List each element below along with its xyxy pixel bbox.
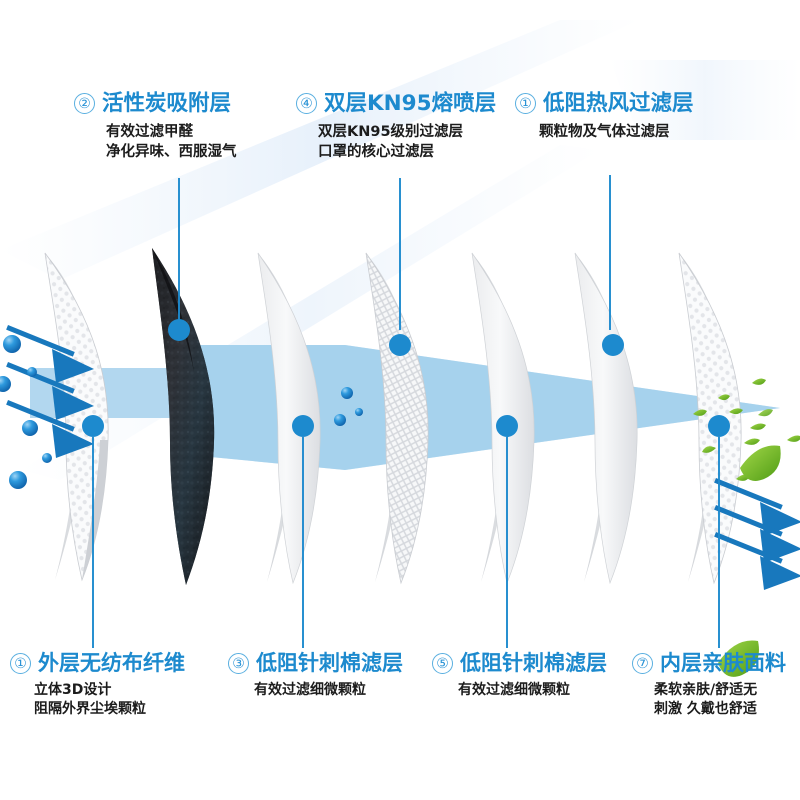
callout-headline: ⑤ 低阻针刺棉滤层 [432,652,607,675]
callout-description: 颗粒物及气体过滤层 [515,122,694,142]
callout-number: ① [515,93,536,114]
callout-inner-skin-fabric: ⑦ 内层亲肤面料 柔软亲肤/舒适无 刺激 久戴也舒适 [632,652,786,720]
callout-dot-meltblown [389,334,411,356]
callout-number: ③ [228,653,249,674]
callout-dot-inner [708,415,730,437]
callout-activated-carbon: ② 活性炭吸附层 有效过滤甲醛 净化异味、西服湿气 [74,92,237,162]
callout-headline: ① 外层无纺布纤维 [10,652,185,675]
callout-dot-outer [82,415,104,437]
callout-description: 立体3D设计 阻隔外界尘埃颗粒 [10,681,185,720]
callout-title: 活性炭吸附层 [102,92,231,116]
callout-title: 低阻针刺棉滤层 [256,652,403,675]
callout-headline: ③ 低阻针刺棉滤层 [228,652,403,675]
fresh-air-leaf-accent [740,445,781,480]
outbound-arrow-3 [714,532,800,590]
mask-layer-diagram: ② 活性炭吸附层 有效过滤甲醛 净化异味、西服湿气 ④ 双层KN95熔喷层 双层… [0,0,800,800]
callout-title: 低阻热风过滤层 [543,92,694,116]
callout-headline: ⑦ 内层亲肤面料 [632,652,786,675]
callout-number: ④ [296,93,317,114]
callout-title: 内层亲肤面料 [660,652,786,675]
callout-dot-hotair [602,334,624,356]
callout-dot-cotton1 [292,415,314,437]
callout-dot-cotton2 [496,415,518,437]
callout-number: ⑦ [632,653,653,674]
callout-description: 双层KN95级别过滤层 口罩的核心过滤层 [296,122,496,162]
callout-title: 低阻针刺棉滤层 [460,652,607,675]
callout-dot-carbon [168,319,190,341]
callout-outer-nonwoven: ① 外层无纺布纤维 立体3D设计 阻隔外界尘埃颗粒 [10,652,185,720]
callout-needle-cotton-2: ⑤ 低阻针刺棉滤层 有效过滤细微颗粒 [432,652,607,700]
callout-number: ② [74,93,95,114]
callout-number: ① [10,653,31,674]
callout-headline: ① 低阻热风过滤层 [515,92,694,116]
callout-number: ⑤ [432,653,453,674]
callout-title: 外层无纺布纤维 [38,652,185,675]
callout-description: 柔软亲肤/舒适无 刺激 久戴也舒适 [632,681,786,720]
callout-needle-cotton-1: ③ 低阻针刺棉滤层 有效过滤细微颗粒 [228,652,403,700]
callout-description: 有效过滤甲醛 净化异味、西服湿气 [74,122,237,162]
callout-description: 有效过滤细微颗粒 [432,681,607,700]
callout-headline: ② 活性炭吸附层 [74,92,237,116]
callout-headline: ④ 双层KN95熔喷层 [296,92,496,116]
callout-hot-air-filter: ① 低阻热风过滤层 颗粒物及气体过滤层 [515,92,694,142]
callout-title: 双层KN95熔喷层 [324,92,496,116]
callout-description: 有效过滤细微颗粒 [228,681,403,700]
callout-kn95-meltblown: ④ 双层KN95熔喷层 双层KN95级别过滤层 口罩的核心过滤层 [296,92,496,162]
